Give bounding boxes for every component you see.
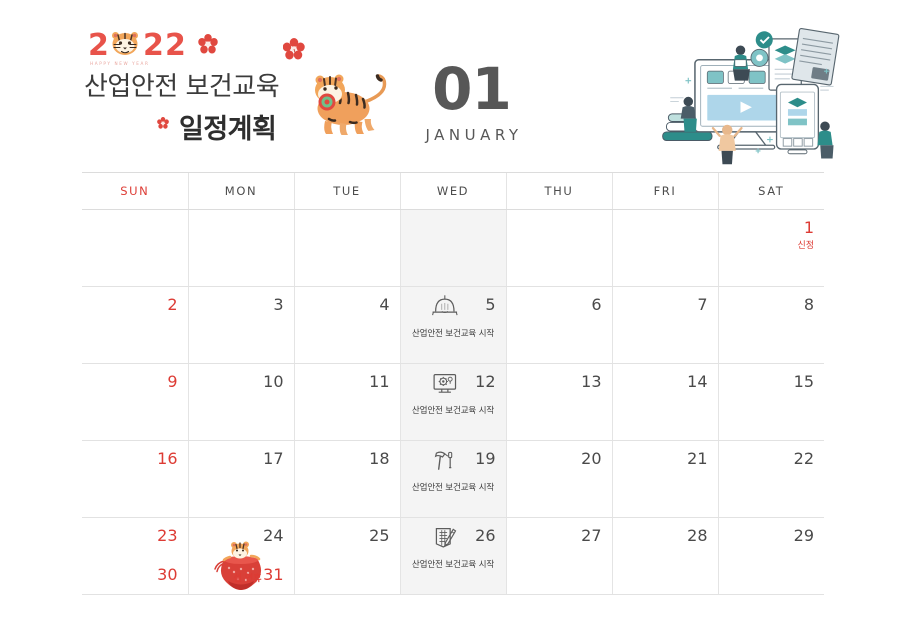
plum-blossom-small-icon: [157, 117, 169, 129]
day-event: 산업안전 보건교육 시작: [401, 370, 506, 416]
day-number: 28: [687, 526, 707, 545]
day-cell-7[interactable]: 7: [612, 287, 718, 364]
event-text: 산업안전 보건교육 시작: [401, 404, 506, 416]
monitor-gear-icon: [428, 370, 462, 396]
calendar-table: SUN MON TUE WED THU FRI SAT 1 신정: [82, 172, 824, 595]
calendar-week-row: 1 신정: [82, 210, 824, 287]
day-cell-4[interactable]: 4: [294, 287, 400, 364]
day-number: 10: [263, 372, 283, 391]
day-cell-18[interactable]: 18: [294, 441, 400, 518]
day-cell-15[interactable]: 15: [718, 364, 824, 441]
day-cell-6[interactable]: 6: [506, 287, 612, 364]
event-text: 산업안전 보건교육 시작: [401, 481, 506, 493]
hammer-screwdriver-icon: [428, 447, 462, 473]
day-cell-21[interactable]: 21: [612, 441, 718, 518]
day-number-second: 30: [157, 565, 177, 584]
calendar-header-row: SUN MON TUE WED THU FRI SAT: [82, 173, 824, 210]
day-event: 산업안전 보건교육 시작: [401, 524, 506, 570]
day-cell-5[interactable]: 5 산업안전 보건교육 시작: [400, 287, 506, 364]
day-number: 25: [369, 526, 389, 545]
weekday-header-thu: THU: [506, 173, 612, 210]
day-cell-23-30[interactable]: 23 30: [82, 518, 188, 595]
day-cell-13[interactable]: 13: [506, 364, 612, 441]
weekday-header-fri: FRI: [612, 173, 718, 210]
day-cell-1[interactable]: 1 신정: [718, 210, 824, 287]
day-number: 8: [804, 295, 814, 314]
online-education-illustration-icon: [655, 18, 845, 168]
day-number: 29: [794, 526, 814, 545]
day-cell-25[interactable]: 25: [294, 518, 400, 595]
day-event: 산업안전 보건교육 시작: [401, 293, 506, 339]
month-name: JANUARY: [409, 126, 539, 144]
year-digit-1: 2: [88, 28, 108, 63]
day-number: 13: [581, 372, 601, 391]
weekday-header-tue: TUE: [294, 173, 400, 210]
year-logo: 2 2 2: [88, 28, 238, 60]
walking-tiger-icon: [296, 56, 391, 144]
day-cell-29[interactable]: 29: [718, 518, 824, 595]
day-number: 15: [794, 372, 814, 391]
day-number: 21: [687, 449, 707, 468]
day-cell-26[interactable]: 26 산업안전 보건교육 시작: [400, 518, 506, 595]
day-cell-11[interactable]: 11: [294, 364, 400, 441]
weekday-header-mon: MON: [188, 173, 294, 210]
day-cell-2[interactable]: 2: [82, 287, 188, 364]
day-number: 23: [157, 526, 177, 545]
day-number: 14: [687, 372, 707, 391]
day-event: 산업안전 보건교육 시작: [401, 447, 506, 493]
plum-blossom-icon: [198, 34, 218, 54]
tiger-face-icon: [110, 29, 140, 57]
year-digit-2: 2: [143, 28, 163, 63]
weekday-header-sun: SUN: [82, 173, 188, 210]
day-cell-empty[interactable]: [506, 210, 612, 287]
day-number: 16: [157, 449, 177, 468]
event-text: 산업안전 보건교육 시작: [401, 327, 506, 339]
day-cell-24-31[interactable]: 24: [188, 518, 294, 595]
day-cell-27[interactable]: 27: [506, 518, 612, 595]
day-number: 2: [167, 295, 177, 314]
calendar-grid: SUN MON TUE WED THU FRI SAT 1 신정: [82, 172, 824, 595]
day-cell-17[interactable]: 17: [188, 441, 294, 518]
day-cell-3[interactable]: 3: [188, 287, 294, 364]
day-number: 4: [379, 295, 389, 314]
day-cell-empty[interactable]: [294, 210, 400, 287]
day-cell-14[interactable]: 14: [612, 364, 718, 441]
day-cell-10[interactable]: 10: [188, 364, 294, 441]
weekday-header-wed: WED: [400, 173, 506, 210]
day-cell-9[interactable]: 9: [82, 364, 188, 441]
event-text: 산업안전 보건교육 시작: [401, 558, 506, 570]
day-cell-22[interactable]: 22: [718, 441, 824, 518]
day-cell-empty[interactable]: [400, 210, 506, 287]
title-line-1: 산업안전 보건교육: [84, 66, 279, 103]
day-number: 11: [369, 372, 389, 391]
day-cell-empty[interactable]: [612, 210, 718, 287]
day-number: 18: [369, 449, 389, 468]
day-number: 27: [581, 526, 601, 545]
day-cell-8[interactable]: 8: [718, 287, 824, 364]
holiday-label: 설 연휴: [234, 571, 262, 584]
day-cell-empty[interactable]: [188, 210, 294, 287]
day-number-second: 31: [263, 565, 283, 584]
weekday-header-sat: SAT: [718, 173, 824, 210]
day-number: 1: [804, 218, 814, 237]
day-number: 22: [794, 449, 814, 468]
day-cell-12[interactable]: 12 산업안전 보건교육 시: [400, 364, 506, 441]
month-block: 01 JANUARY: [404, 58, 539, 144]
day-number: 17: [263, 449, 283, 468]
day-cell-16[interactable]: 16: [82, 441, 188, 518]
day-number: 3: [273, 295, 283, 314]
year-digit-3: 2: [165, 28, 185, 63]
day-cell-19[interactable]: 19 산업안전 보건교육 시작: [400, 441, 506, 518]
clipboard-pen-icon: [428, 524, 462, 550]
day-number: 6: [591, 295, 601, 314]
day-number: 20: [581, 449, 601, 468]
day-number: 7: [697, 295, 707, 314]
calendar-week-row: 16 17 18 19: [82, 441, 824, 518]
day-cell-28[interactable]: 28: [612, 518, 718, 595]
holiday-label: 신정: [797, 238, 814, 251]
calendar-week-row: 23 30 24: [82, 518, 824, 595]
day-cell-20[interactable]: 20: [506, 441, 612, 518]
year-logo-block: 2 2 2: [82, 28, 312, 66]
day-cell-empty[interactable]: [82, 210, 188, 287]
title-line-2: 일정계획: [179, 107, 276, 146]
page-header: 2 2 2: [0, 0, 914, 172]
calendar-week-row: 2 3 4 5: [82, 287, 824, 364]
safety-helmet-icon: [428, 293, 462, 319]
month-number: 01: [404, 58, 539, 120]
day-number: 9: [167, 372, 177, 391]
calendar-week-row: 9 10 11 12: [82, 364, 824, 441]
